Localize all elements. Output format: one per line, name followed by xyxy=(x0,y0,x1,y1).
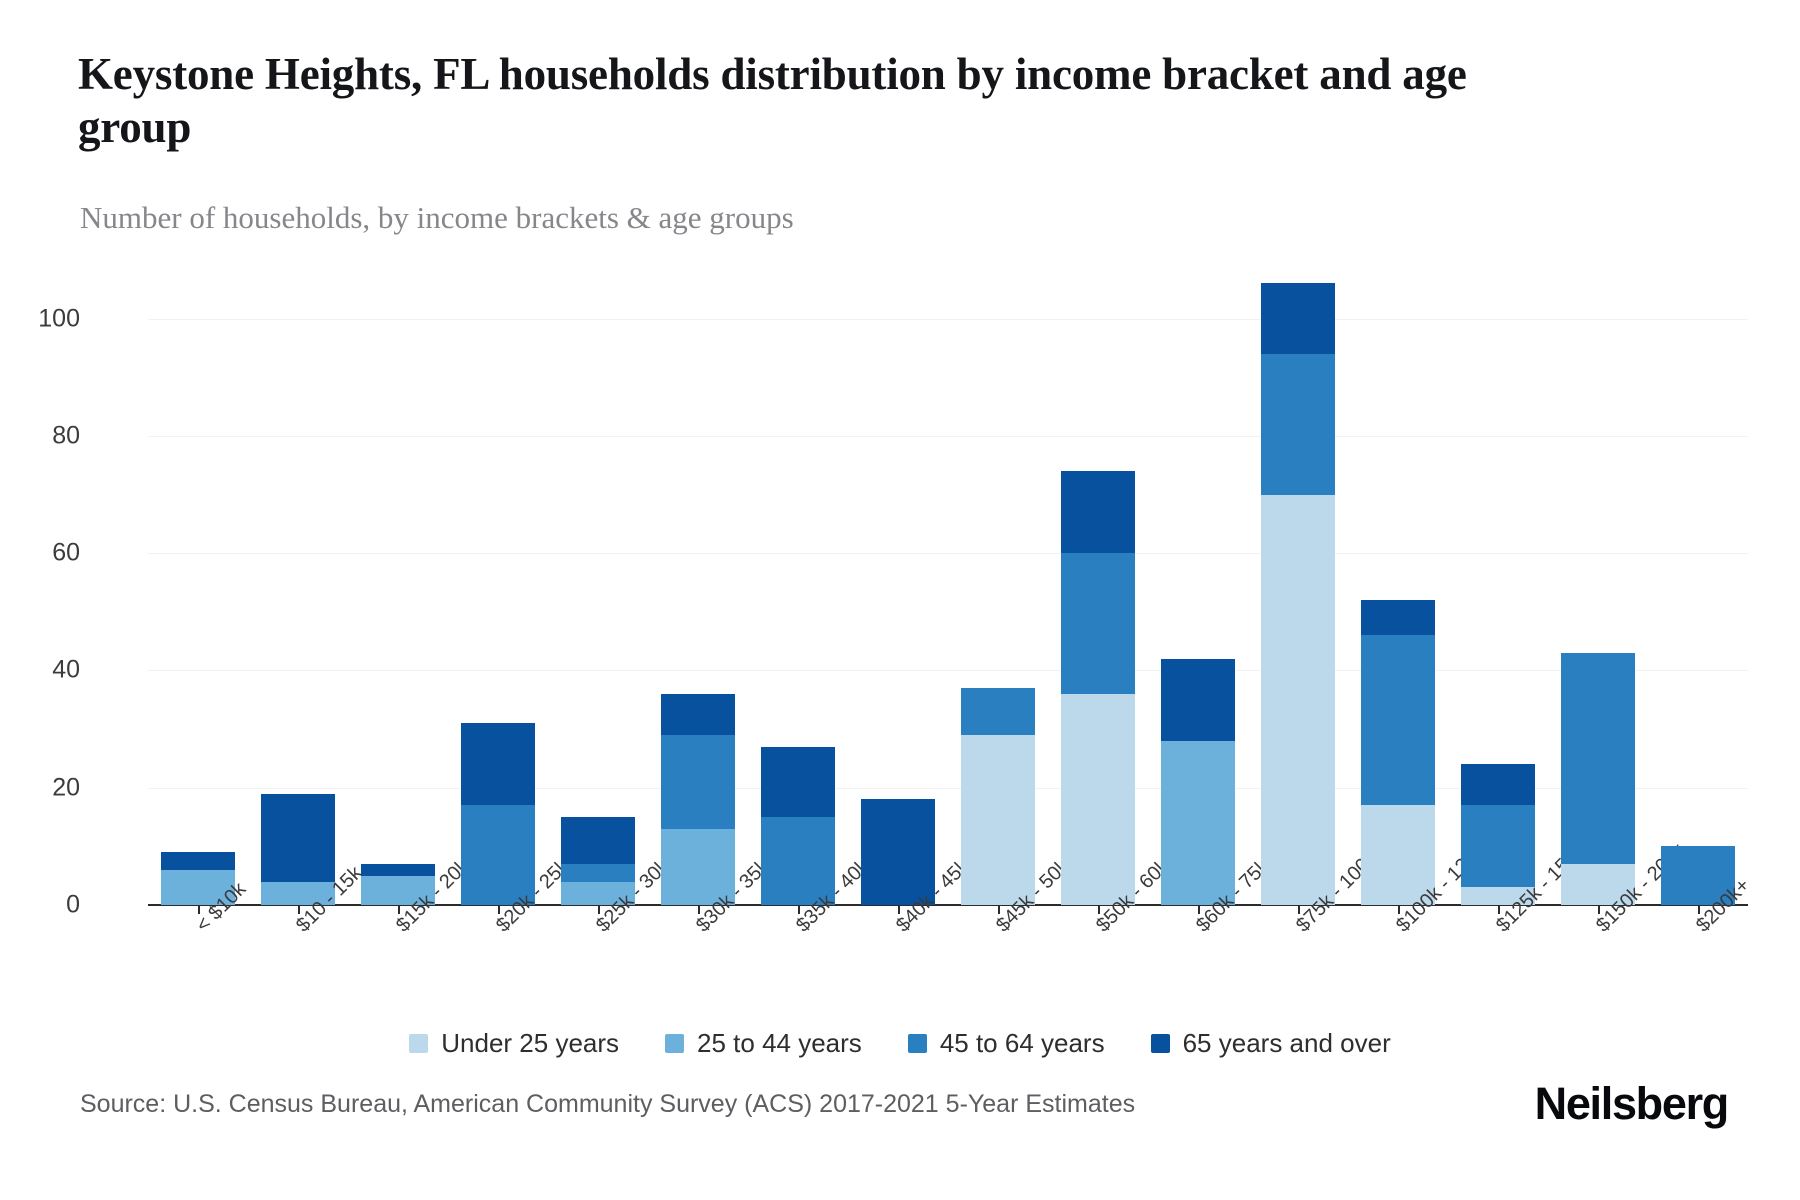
bar-stack[interactable] xyxy=(361,260,435,905)
chart-plot-area: 020406080100< $10k$10 - 15k$15k - 20k$20… xyxy=(148,260,1748,905)
legend-item[interactable]: 45 to 64 years xyxy=(908,1028,1105,1059)
brand-logo: Neilsberg xyxy=(1535,1078,1728,1130)
bar-segment[interactable] xyxy=(1061,553,1135,694)
legend-swatch xyxy=(908,1034,927,1053)
x-axis-tick-label: $100k - 125k xyxy=(1392,921,1408,937)
page-subtitle: Number of households, by income brackets… xyxy=(80,199,1480,236)
bar-stack[interactable] xyxy=(1661,260,1735,905)
x-axis-tick-label: $45k - 50k xyxy=(992,921,1008,937)
bar-stack[interactable] xyxy=(561,260,635,905)
bar-segment[interactable] xyxy=(661,694,735,735)
legend-label: Under 25 years xyxy=(441,1028,619,1059)
x-axis-tick-label: $125k - 150k xyxy=(1492,921,1508,937)
bar-segment[interactable] xyxy=(1261,495,1335,905)
bar-stack[interactable] xyxy=(961,260,1035,905)
x-axis-tick-label: $150k - 200k xyxy=(1592,921,1608,937)
y-axis-tick-label: 0 xyxy=(0,891,80,920)
bar-segment[interactable] xyxy=(1061,471,1135,553)
legend-item[interactable]: 25 to 44 years xyxy=(665,1028,862,1059)
y-axis-tick-label: 100 xyxy=(0,304,80,333)
bar-segment[interactable] xyxy=(1361,635,1435,805)
x-axis-tick-label: $60k - 75k xyxy=(1192,921,1208,937)
bar-segment[interactable] xyxy=(561,864,635,882)
bar-stack[interactable] xyxy=(661,260,735,905)
bar-segment[interactable] xyxy=(1061,694,1135,905)
bar-stack[interactable] xyxy=(1561,260,1635,905)
y-axis-tick-label: 40 xyxy=(0,656,80,685)
bar-segment[interactable] xyxy=(1361,600,1435,635)
legend-label: 25 to 44 years xyxy=(697,1028,862,1059)
bar-stack[interactable] xyxy=(1061,260,1135,905)
y-axis-tick-label: 20 xyxy=(0,773,80,802)
legend-label: 45 to 64 years xyxy=(940,1028,1105,1059)
legend-swatch xyxy=(665,1034,684,1053)
bar-stack[interactable] xyxy=(1161,260,1235,905)
x-axis-tick-label: $10 - 15k xyxy=(292,921,308,937)
legend-item[interactable]: 65 years and over xyxy=(1151,1028,1391,1059)
bar-stack[interactable] xyxy=(261,260,335,905)
bar-stack[interactable] xyxy=(161,260,235,905)
bar-stack[interactable] xyxy=(761,260,835,905)
bar-segment[interactable] xyxy=(1161,659,1235,741)
bar-segment[interactable] xyxy=(1461,764,1535,805)
bar-segment[interactable] xyxy=(1261,354,1335,495)
legend-swatch xyxy=(409,1034,428,1053)
bar-segment[interactable] xyxy=(661,735,735,829)
y-axis-tick-label: 60 xyxy=(0,539,80,568)
x-axis-tick-label: < $10k xyxy=(192,921,208,937)
bar-segment[interactable] xyxy=(761,747,835,817)
bar-stack[interactable] xyxy=(461,260,535,905)
legend-label: 65 years and over xyxy=(1183,1028,1391,1059)
legend-swatch xyxy=(1151,1034,1170,1053)
bar-segment[interactable] xyxy=(161,852,235,870)
x-axis-tick-label: $25k - 30k xyxy=(592,921,608,937)
bar-segment[interactable] xyxy=(1461,805,1535,887)
x-axis-tick-label: $40k - 45k xyxy=(892,921,908,937)
y-axis-tick-label: 80 xyxy=(0,421,80,450)
bar-segment[interactable] xyxy=(1561,653,1635,864)
x-axis-tick-label: $20k - 25k xyxy=(492,921,508,937)
bar-segment[interactable] xyxy=(961,688,1035,735)
x-axis-tick-label: $35k - 40k xyxy=(792,921,808,937)
bar-segment[interactable] xyxy=(461,723,535,805)
bar-segment[interactable] xyxy=(1261,283,1335,353)
x-axis-tick-label: $200k+ xyxy=(1692,921,1708,937)
bar-segment[interactable] xyxy=(1161,741,1235,905)
chart-legend: Under 25 years25 to 44 years45 to 64 yea… xyxy=(0,1028,1800,1059)
bar-segment[interactable] xyxy=(961,735,1035,905)
source-note: Source: U.S. Census Bureau, American Com… xyxy=(80,1090,1135,1119)
page-title: Keystone Heights, FL households distribu… xyxy=(78,48,1578,154)
bar-stack[interactable] xyxy=(1461,260,1535,905)
x-axis-tick-label: $30k - 35k xyxy=(692,921,708,937)
bar-segment[interactable] xyxy=(561,817,635,864)
x-axis-tick-label: $15k - 20k xyxy=(392,921,408,937)
x-axis-tick-label: $75k - 100k xyxy=(1292,921,1308,937)
x-axis-tick-label: $50k - 60k xyxy=(1092,921,1108,937)
legend-item[interactable]: Under 25 years xyxy=(409,1028,619,1059)
bar-segment[interactable] xyxy=(261,794,335,882)
bar-segment[interactable] xyxy=(361,864,435,876)
bar-stack[interactable] xyxy=(1361,260,1435,905)
bar-stack[interactable] xyxy=(861,260,935,905)
bar-stack[interactable] xyxy=(1261,260,1335,905)
